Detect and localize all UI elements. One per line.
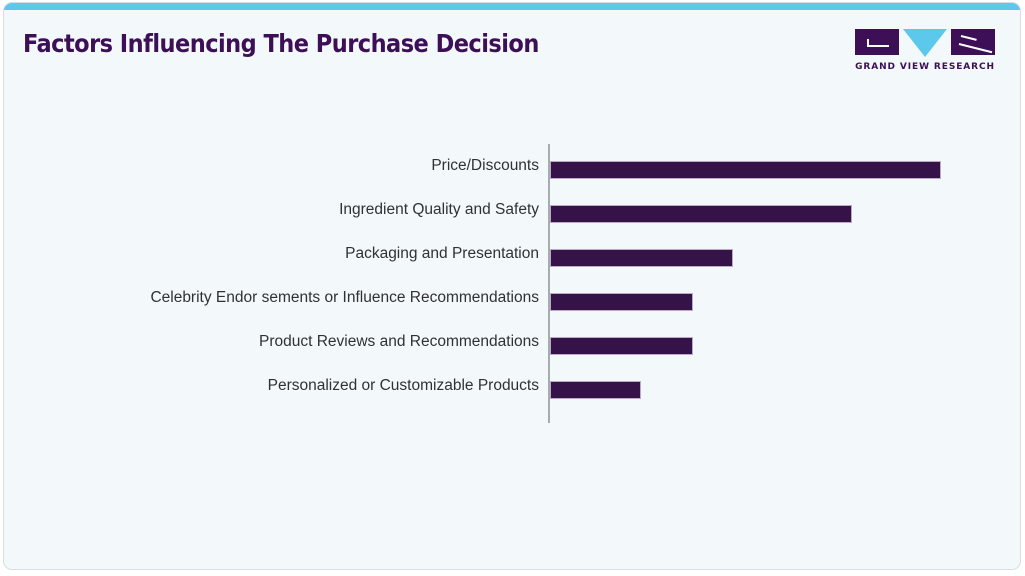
bar-chart-plot: Price/Discounts Ingredient Quality and S… — [4, 3, 1021, 570]
bar-row: Product Reviews and Recommendations — [4, 320, 1021, 364]
bar-row: Price/Discounts — [4, 144, 1021, 188]
chart-canvas: Factors Influencing The Purchase Decisio… — [0, 0, 1025, 576]
bar-category-label: Packaging and Presentation — [28, 245, 548, 263]
bar-category-label: Celebrity Endor sements or Influence Rec… — [28, 289, 548, 307]
bar-row: Celebrity Endor sements or Influence Rec… — [4, 276, 1021, 320]
bar-row: Personalized or Customizable Products — [4, 364, 1021, 408]
bar-value[interactable] — [550, 381, 641, 399]
bar-value[interactable] — [550, 205, 852, 223]
bar-category-label: Product Reviews and Recommendations — [28, 333, 548, 351]
bar-row: Packaging and Presentation — [4, 232, 1021, 276]
bar-value[interactable] — [550, 161, 941, 179]
bar-category-label: Ingredient Quality and Safety — [28, 201, 548, 219]
bar-value[interactable] — [550, 337, 693, 355]
bar-value[interactable] — [550, 249, 733, 267]
bar-category-label: Personalized or Customizable Products — [28, 377, 548, 395]
chart-card: Factors Influencing The Purchase Decisio… — [3, 2, 1021, 570]
bar-category-label: Price/Discounts — [28, 157, 548, 175]
bar-series: Price/Discounts Ingredient Quality and S… — [4, 144, 1021, 408]
bar-row: Ingredient Quality and Safety — [4, 188, 1021, 232]
bar-value[interactable] — [550, 293, 693, 311]
